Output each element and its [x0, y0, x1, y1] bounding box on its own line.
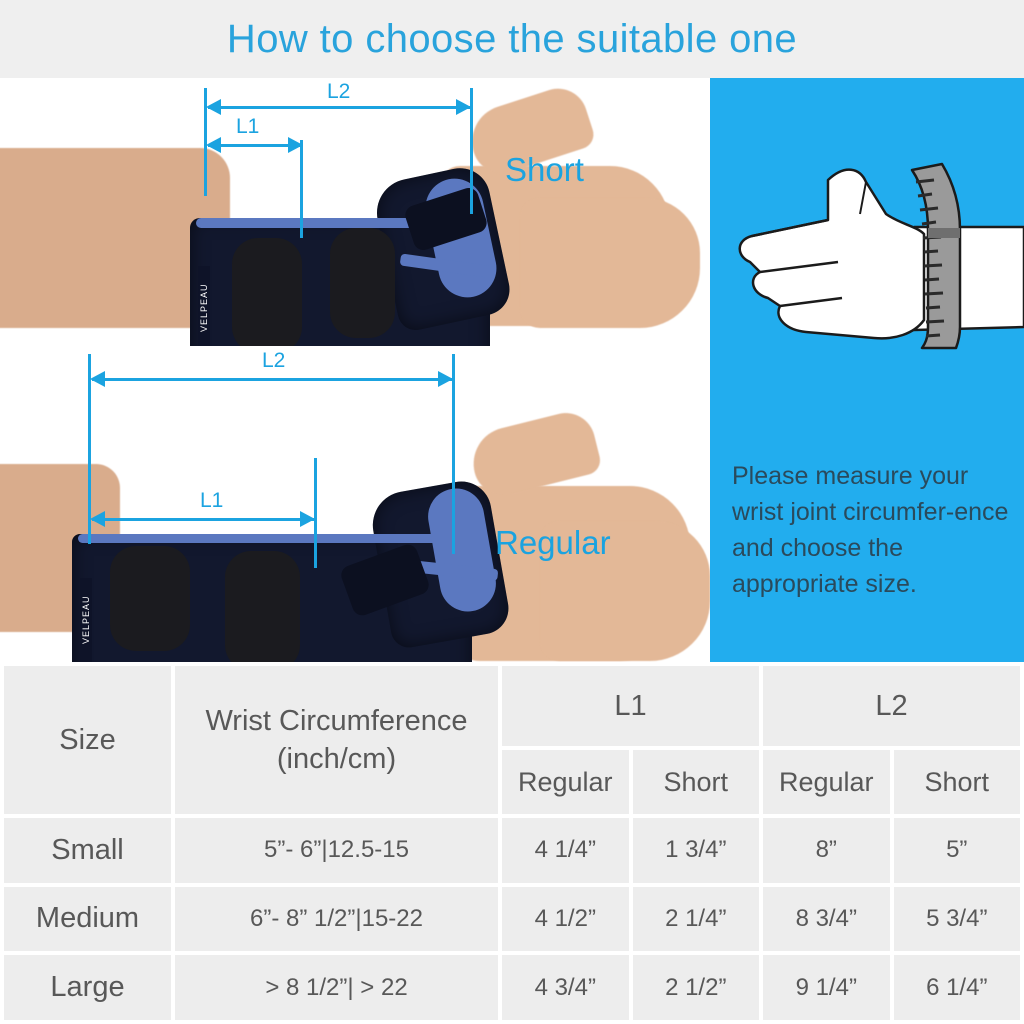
- cell-l2-regular-large: 9 1/4”: [763, 955, 890, 1020]
- product-photo-short: VELPEAU L2 L1 Short: [0, 78, 710, 346]
- table-header-row-main: Size Wrist Circumference (inch/cm) L1 L2: [4, 666, 1020, 746]
- header-wrist-circumference: Wrist Circumference (inch/cm): [175, 666, 498, 814]
- measurement-instruction: Please measure your wrist joint circumfe…: [732, 458, 1014, 602]
- size-chart-table: Size Wrist Circumference (inch/cm) L1 L2…: [0, 662, 1024, 1024]
- cell-l1-short-small: 1 3/4”: [633, 818, 760, 883]
- l1-tick-right-short: [300, 140, 303, 238]
- cell-wrist-small: 5”- 6”|12.5-15: [175, 818, 498, 883]
- cell-l2-short-medium: 5 3/4”: [894, 887, 1021, 952]
- cell-wrist-medium: 6”- 8” 1/2”|15-22: [175, 887, 498, 952]
- cell-l1-short-large: 2 1/2”: [633, 955, 760, 1020]
- header-l2-short: Short: [894, 750, 1021, 814]
- cell-size-small: Small: [4, 818, 171, 883]
- page-header: How to choose the suitable one: [0, 0, 1024, 78]
- cell-l2-regular-medium: 8 3/4”: [763, 887, 890, 952]
- brand-label-regular: VELPEAU: [80, 578, 92, 662]
- table-row: Small 5”- 6”|12.5-15 4 1/4” 1 3/4” 8” 5”: [4, 818, 1020, 883]
- variant-label-short: Short: [505, 151, 584, 189]
- cell-wrist-large: > 8 1/2”| > 22: [175, 955, 498, 1020]
- l1-line-regular: [92, 518, 314, 521]
- header-l1: L1: [502, 666, 759, 746]
- header-size: Size: [4, 666, 171, 814]
- cell-size-medium: Medium: [4, 887, 171, 952]
- size-table-element: Size Wrist Circumference (inch/cm) L1 L2…: [0, 662, 1024, 1024]
- brand-label-short: VELPEAU: [198, 266, 210, 346]
- cell-l2-short-large: 6 1/4”: [894, 955, 1021, 1020]
- header-l2-regular: Regular: [763, 750, 890, 814]
- l2-arrow-right-short: [456, 99, 471, 115]
- product-photo-area: VELPEAU L2 L1 Short VELPEAU: [0, 78, 710, 662]
- table-row: Medium 6”- 8” 1/2”|15-22 4 1/2” 2 1/4” 8…: [4, 887, 1020, 952]
- brace-pad-a-short: [232, 238, 302, 346]
- cell-l1-regular-medium: 4 1/2”: [502, 887, 629, 952]
- l2-line-regular: [92, 378, 452, 381]
- l1-arrow-right-regular: [300, 511, 315, 527]
- hand-with-measuring-tape-icon: [710, 102, 1024, 432]
- fingers-short: [520, 198, 700, 328]
- l2-arrow-left-short: [206, 99, 221, 115]
- cell-l1-regular-small: 4 1/4”: [502, 818, 629, 883]
- brace-pad-a-regular: [110, 546, 190, 651]
- cell-l2-short-small: 5”: [894, 818, 1021, 883]
- l2-arrow-left-regular: [90, 371, 105, 387]
- l1-arrow-left-regular: [90, 511, 105, 527]
- cell-l1-short-medium: 2 1/4”: [633, 887, 760, 952]
- cell-size-large: Large: [4, 955, 171, 1020]
- l1-arrow-left-short: [206, 137, 221, 153]
- table-row: Large > 8 1/2”| > 22 4 3/4” 2 1/2” 9 1/4…: [4, 955, 1020, 1020]
- brace-pad-b-regular: [225, 551, 300, 662]
- l1-arrow-right-short: [288, 137, 303, 153]
- l2-arrow-right-regular: [438, 371, 453, 387]
- cell-l1-regular-large: 4 3/4”: [502, 955, 629, 1020]
- header-l1-short: Short: [633, 750, 760, 814]
- cell-l2-regular-small: 8”: [763, 818, 890, 883]
- header-l2: L2: [763, 666, 1020, 746]
- page-title: How to choose the suitable one: [227, 17, 797, 62]
- product-photo-regular: VELPEAU L2 L1 Regular: [0, 346, 710, 662]
- l1-label-short: L1: [236, 115, 259, 139]
- brace-trim-top-regular: [78, 534, 468, 543]
- header-l1-regular: Regular: [502, 750, 629, 814]
- brace-pad-b-short: [330, 228, 395, 338]
- variant-label-regular: Regular: [495, 524, 611, 562]
- l1-label-regular: L1: [200, 489, 223, 513]
- measurement-info-panel: Please measure your wrist joint circumfe…: [710, 78, 1024, 662]
- l2-label-short: L2: [327, 80, 350, 104]
- l2-label-regular: L2: [262, 349, 285, 373]
- l2-line-short: [208, 106, 470, 109]
